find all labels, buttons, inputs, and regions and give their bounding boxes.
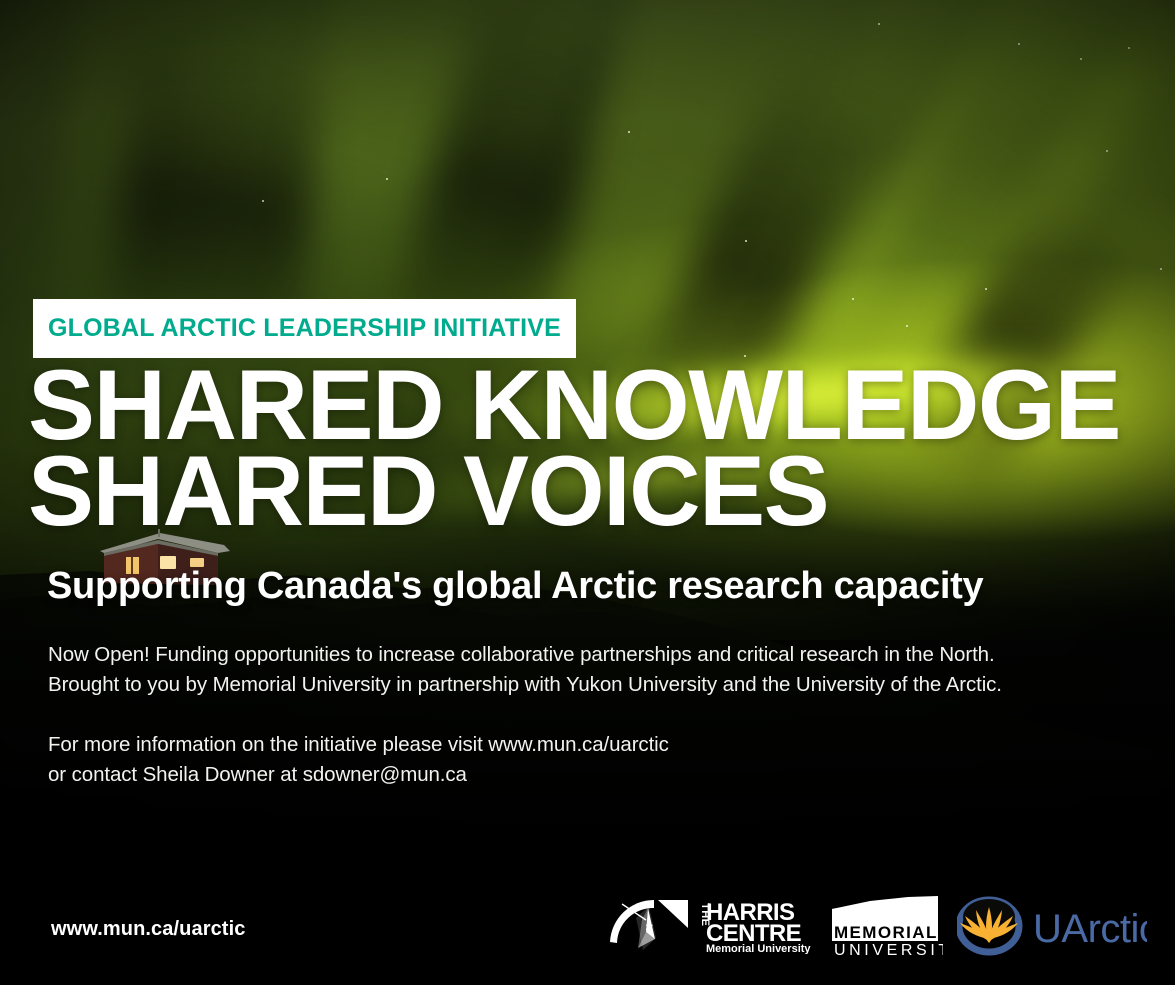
svg-text:N: N [644,924,654,931]
memorial-line2-text: UNIVERSITY [834,942,943,957]
headline-line-1: SHARED KNOWLEDGE [28,362,1120,448]
footer-url[interactable]: www.mun.ca/uarctic [51,918,245,941]
headline: SHARED KNOWLEDGE SHARED VOICES [28,362,1148,534]
logo-row: N THE HARRIS CENTRE Memorial University [602,889,1147,963]
memorial-line1-text: MEMORIAL [834,923,938,942]
contact-line-1: For more information on the initiative p… [48,730,669,760]
contact-copy: For more information on the initiative p… [48,730,669,790]
uarctic-flower-icon [959,899,1019,952]
poster-content: GLOBAL ARCTIC LEADERSHIP INITIATIVE SHAR… [0,0,1175,985]
body-line-2: Brought to you by Memorial University in… [48,670,1002,700]
poster: GLOBAL ARCTIC LEADERSHIP INITIATIVE SHAR… [0,0,1175,985]
uarctic-wordmark-text: UArctic [1033,907,1147,951]
harris-sub-text: Memorial University [706,943,811,954]
eyebrow-label: GLOBAL ARCTIC LEADERSHIP INITIATIVE [48,314,561,343]
body-copy: Now Open! Funding opportunities to incre… [48,640,1002,700]
headline-line-2: SHARED VOICES [28,448,828,534]
subheadline: Supporting Canada's global Arctic resear… [47,563,983,609]
compass-icon: N [610,900,688,950]
memorial-university-logo: MEMORIAL UNIVERSITY [830,895,943,957]
harris-centre-logo: N THE HARRIS CENTRE Memorial University [602,898,824,954]
contact-line-2: or contact Sheila Downer at sdowner@mun.… [48,760,669,790]
uarctic-logo: UArctic [957,895,1147,957]
body-line-1: Now Open! Funding opportunities to incre… [48,640,1002,670]
